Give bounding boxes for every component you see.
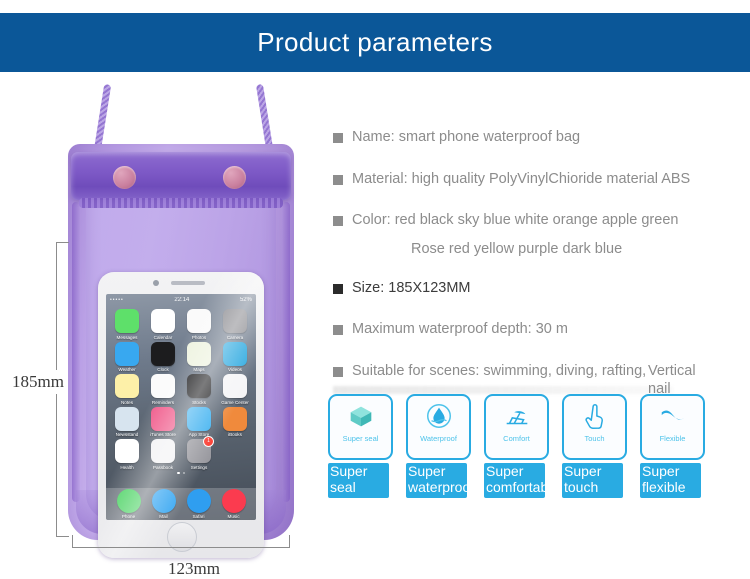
itunes-store-app-icon <box>151 407 175 431</box>
feature-card: Super seal <box>328 394 393 460</box>
feature-card: Touch <box>562 394 627 460</box>
app-label: Calendar <box>154 335 173 340</box>
waterproof-bag: ••••• 22:14 52% MessagesCalendarPhotosCa… <box>68 144 294 540</box>
feature-badge: TouchSupertouch <box>562 394 623 527</box>
feature-title-bar: Superflexible <box>640 463 701 498</box>
beach-icon <box>502 396 532 436</box>
page-title: Product parameters <box>257 27 493 58</box>
spec-text: Color: red black sky blue white orange a… <box>352 211 678 231</box>
phone-app-icon <box>117 489 141 513</box>
bullet-square-icon <box>333 367 343 377</box>
header-band: Product parameters <box>0 13 750 72</box>
app-label: Weather <box>118 367 135 372</box>
spec-text: Name: smart phone waterproof bag <box>352 128 580 148</box>
feature-badge: Super sealSuperseal <box>328 394 389 527</box>
app-label: Passbook <box>153 465 173 470</box>
app-label: iBooks <box>228 432 242 437</box>
calendar-app-icon <box>151 309 175 333</box>
spec-item: Material: high quality PolyVinylChioride… <box>333 170 745 190</box>
app-tile: Clock <box>146 342 180 373</box>
page-dots <box>106 472 256 475</box>
app-label: Reminders <box>152 400 174 405</box>
feature-title-line2: seal <box>330 480 387 496</box>
dock-tile: Phone <box>117 489 141 520</box>
status-bar: ••••• 22:14 52% <box>106 294 256 305</box>
page-dot <box>177 472 180 475</box>
app-tile: Passbook <box>146 439 180 470</box>
spec-text: Size: 185X123MM <box>352 279 470 299</box>
passbook-app-icon <box>151 439 175 463</box>
bullet-square-icon <box>333 133 343 143</box>
dock-label: Phone <box>122 514 135 519</box>
newsstand-app-icon <box>115 407 139 431</box>
feature-title-line1: Super <box>642 464 699 480</box>
messages-app-icon <box>115 309 139 333</box>
snap-button-right <box>223 166 246 189</box>
feature-badge: WaterproofSuperwaterproof <box>406 394 467 527</box>
dock-tile: Safari <box>187 489 211 520</box>
app-label: iTunes Store <box>150 432 176 437</box>
feature-title-bar: Supercomfortable <box>484 463 545 498</box>
product-photo: ••••• 22:14 52% MessagesCalendarPhotosCa… <box>0 72 320 527</box>
feature-title-line2: waterproof <box>408 480 465 496</box>
spec-text: Maximum waterproof depth: 30 m <box>352 320 568 340</box>
feature-title-bar: Superwaterproof <box>406 463 467 498</box>
app-tile: Weather <box>110 342 144 373</box>
app-label: Camera <box>227 335 243 340</box>
page-dot <box>183 472 186 475</box>
feature-caption: Comfort <box>503 434 530 443</box>
mail-app-icon <box>152 489 176 513</box>
height-dimension-label: 185mm <box>8 370 68 394</box>
app-label: Stocks <box>192 400 206 405</box>
app-tile: iBooks <box>218 407 252 438</box>
feature-title-bar: Superseal <box>328 463 389 498</box>
dimension-cap-top <box>56 242 69 243</box>
photos-app-icon <box>187 309 211 333</box>
app-tile: Messages <box>110 309 144 340</box>
app-tile: Stocks <box>182 374 216 405</box>
phone-screen: ••••• 22:14 52% MessagesCalendarPhotosCa… <box>106 294 256 520</box>
battery-level: 52% <box>240 297 252 303</box>
width-dimension-label: 123mm <box>168 559 220 579</box>
earpiece-speaker <box>171 281 205 285</box>
bullet-square-icon <box>333 325 343 335</box>
feature-title-line2: comfortable <box>486 480 543 496</box>
snap-button-left <box>113 166 136 189</box>
app-tile: Calendar <box>146 309 180 340</box>
hand-touch-icon <box>580 396 610 436</box>
feature-badge: FlexibleSuperflexible <box>640 394 701 527</box>
feature-title-line2: touch <box>564 480 621 496</box>
spec-text: Material: high quality PolyVinylChioride… <box>352 170 690 190</box>
dock-label: Safari <box>192 514 204 519</box>
clock-app-icon <box>151 342 175 366</box>
feature-card: Waterproof <box>406 394 471 460</box>
app-label: Clock <box>157 367 169 372</box>
videos-app-icon <box>223 342 247 366</box>
dimension-cap-left <box>72 535 73 548</box>
app-grid: MessagesCalendarPhotosCameraWeatherClock… <box>106 305 256 470</box>
camera-app-icon <box>223 309 247 333</box>
feature-caption: Super seal <box>343 434 379 443</box>
game-center-app-icon <box>223 374 247 398</box>
spec-text: Suitable for scenes: swimming, diving, r… <box>352 362 646 382</box>
feature-card: Flexible <box>640 394 705 460</box>
spec-item: Size: 185X123MM <box>333 279 745 299</box>
dock-label: Mail <box>159 514 167 519</box>
bag-edge-right <box>282 202 290 502</box>
bullet-square-icon <box>333 175 343 185</box>
feature-caption: Touch <box>584 434 604 443</box>
weather-app-icon <box>115 342 139 366</box>
dimension-cap-right <box>289 535 290 548</box>
status-time: 22:14 <box>174 297 189 303</box>
settings-app-icon: 1 <box>187 439 211 463</box>
app-label: Messages <box>117 335 138 340</box>
feature-badge: ComfortSupercomfortable <box>484 394 545 527</box>
app-tile: Newsstand <box>110 407 144 438</box>
product-parameters-page: Product parameters ••••• <box>0 0 750 527</box>
feature-card: Comfort <box>484 394 549 460</box>
spec-subtext: Rose red yellow purple dark blue <box>411 241 745 257</box>
app-label: Newsstand <box>116 432 139 437</box>
music-app-icon <box>222 489 246 513</box>
bullet-square-icon <box>333 216 343 226</box>
feature-badge-row: Super sealSupersealWaterproofSuperwaterp… <box>328 394 748 527</box>
signal-dots: ••••• <box>110 297 124 303</box>
app-tile: Reminders <box>146 374 180 405</box>
width-dimension-line <box>72 534 290 548</box>
app-badge-count: 1 <box>203 436 214 447</box>
app-tile: App Store <box>182 407 216 438</box>
spec-list: Name: smart phone waterproof bagMaterial… <box>333 128 745 381</box>
reminders-app-icon <box>151 374 175 398</box>
app-label: Game Center <box>221 400 249 405</box>
bag-edge-left <box>72 202 80 502</box>
dock-tile: Mail <box>152 489 176 520</box>
phone-dock: PhoneMailSafariMusic <box>106 488 256 520</box>
app-label: Notes <box>121 400 133 405</box>
phone-earpiece-area <box>98 272 264 294</box>
stocks-app-icon <box>187 374 211 398</box>
app-tile: Health <box>110 439 144 470</box>
dock-label: Music <box>228 514 240 519</box>
spec-item: Maximum waterproof depth: 30 m <box>333 320 745 340</box>
app-tile: Game Center <box>218 374 252 405</box>
app-tile: Maps <box>182 342 216 373</box>
droplet-icon <box>424 396 454 436</box>
box-icon <box>346 396 376 436</box>
clipped-text-strip <box>333 386 673 394</box>
dimension-cap-bottom <box>56 536 69 537</box>
front-camera-icon <box>153 280 159 286</box>
app-label: Photos <box>192 335 206 340</box>
app-tile: Notes <box>110 374 144 405</box>
app-store-app-icon <box>187 407 211 431</box>
phone-mockup: ••••• 22:14 52% MessagesCalendarPhotosCa… <box>98 272 264 558</box>
app-tile: iTunes Store <box>146 407 180 438</box>
feature-title-line2: flexible <box>642 480 699 496</box>
notes-app-icon <box>115 374 139 398</box>
feature-title-bar: Supertouch <box>562 463 623 498</box>
feature-title-line1: Super <box>408 464 465 480</box>
app-label: Settings <box>191 465 208 470</box>
feature-caption: Waterproof <box>420 434 457 443</box>
app-label: Health <box>120 465 133 470</box>
app-tile: 1Settings <box>182 439 216 470</box>
app-tile: Photos <box>182 309 216 340</box>
bullet-square-icon <box>333 284 343 294</box>
spec-item: Color: red black sky blue white orange a… <box>333 211 745 231</box>
feature-caption: Flexible <box>660 434 686 443</box>
feature-title-line1: Super <box>330 464 387 480</box>
feature-title-line1: Super <box>486 464 543 480</box>
app-tile: Camera <box>218 309 252 340</box>
maps-app-icon <box>187 342 211 366</box>
feature-title-line1: Super <box>564 464 621 480</box>
app-label: Maps <box>193 367 204 372</box>
app-label: Videos <box>228 367 242 372</box>
ibooks-app-icon <box>223 407 247 431</box>
spec-item: Name: smart phone waterproof bag <box>333 128 745 148</box>
app-tile: Videos <box>218 342 252 373</box>
flexible-icon <box>658 396 688 436</box>
safari-app-icon <box>187 489 211 513</box>
dock-tile: Music <box>222 489 246 520</box>
bag-closure-bar <box>71 152 291 200</box>
health-app-icon <box>115 439 139 463</box>
